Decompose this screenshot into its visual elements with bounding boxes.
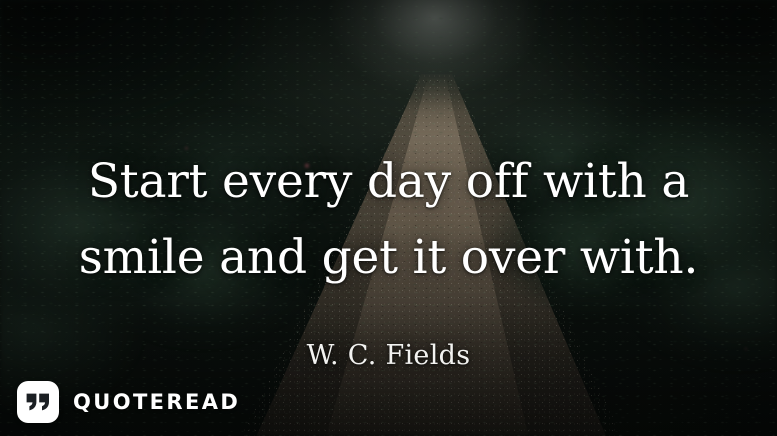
quote-text: Start every day off with a smile and get… [0,144,777,296]
quote-author: W. C. Fields [0,340,777,371]
brand-wordmark: QUOTEREAD [73,392,240,413]
quote-content: Start every day off with a smile and get… [0,0,777,436]
brand-logo[interactable]: QUOTEREAD [17,381,240,423]
double-quote-icon [17,381,59,423]
quote-card: Start every day off with a smile and get… [0,0,777,436]
